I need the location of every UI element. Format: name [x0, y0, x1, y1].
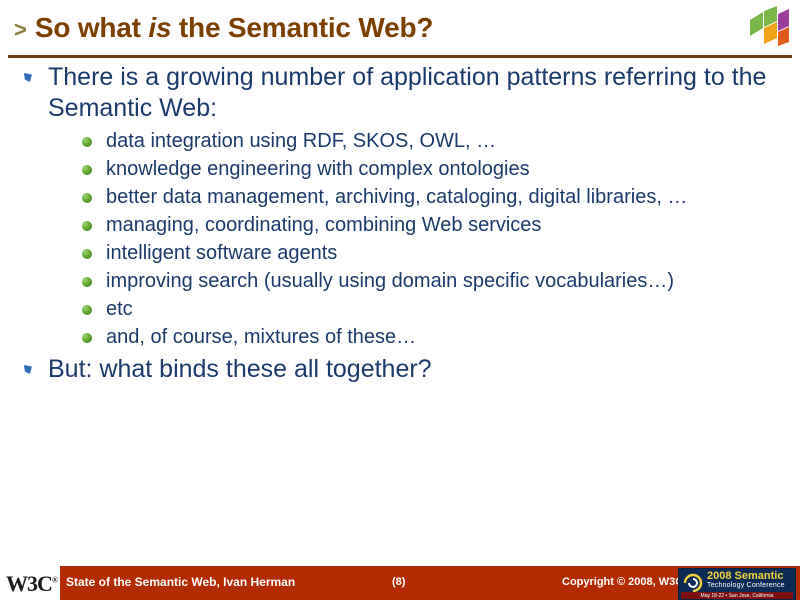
list-item-label: etc — [106, 298, 133, 320]
w3c-cube-logo-icon — [746, 6, 790, 46]
title-part-before: So what — [35, 12, 149, 43]
list-item-label: better data management, archiving, catal… — [106, 186, 687, 208]
conference-name: 2008 Semantic — [707, 571, 783, 582]
list-item-label: intelligent software agents — [106, 242, 337, 264]
diamond-bullet-icon — [24, 365, 32, 374]
conference-swirl-icon — [682, 572, 704, 594]
sphere-bullet-icon — [82, 333, 92, 343]
list-item: data integration using RDF, SKOS, OWL, … — [70, 129, 800, 154]
slide-title-bar: > So what is the Semantic Web? — [0, 0, 800, 56]
w3c-wordmark-text: W3C — [6, 571, 52, 596]
title-prompt-icon: > — [14, 19, 27, 41]
title-part-italic: is — [148, 12, 171, 43]
sphere-bullet-icon — [82, 277, 92, 287]
list-item-label: and, of course, mixtures of these… — [106, 326, 416, 348]
outline-level2-list: data integration using RDF, SKOS, OWL, …… — [70, 129, 800, 350]
sphere-bullet-icon — [82, 221, 92, 231]
list-item: There is a growing number of application… — [0, 62, 800, 350]
footer-copyright: Copyright © 2008, W3C — [562, 576, 683, 588]
sub-list-wrapper: data integration using RDF, SKOS, OWL, …… — [48, 129, 800, 350]
w3c-wordmark-logo: W3C® — [6, 571, 58, 597]
list-item: and, of course, mixtures of these… — [70, 325, 800, 350]
list-item: knowledge engineering with complex ontol… — [70, 157, 800, 182]
sphere-bullet-icon — [82, 305, 92, 315]
sphere-bullet-icon — [82, 249, 92, 259]
list-item: better data management, archiving, catal… — [70, 185, 800, 210]
conference-logo: 2008 Semantic Technology Conference May … — [678, 568, 796, 600]
title-part-after: the Semantic Web? — [171, 12, 433, 43]
list-item-label: improving search (usually using domain s… — [106, 270, 674, 292]
conference-subtitle: Technology Conference — [707, 582, 785, 590]
lead-paragraph: There is a growing number of application… — [48, 63, 766, 122]
sphere-bullet-icon — [82, 165, 92, 175]
closing-paragraph: But: what binds these all together? — [48, 355, 432, 383]
list-item: But: what binds these all together? — [0, 354, 800, 385]
list-item: etc — [70, 297, 800, 322]
slide-footer: W3C® State of the Semantic Web, Ivan Her… — [0, 566, 800, 600]
sphere-bullet-icon — [82, 193, 92, 203]
title-divider — [8, 55, 792, 58]
list-item-label: data integration using RDF, SKOS, OWL, … — [106, 130, 496, 152]
registered-trademark-icon: ® — [52, 576, 58, 585]
list-item: intelligent software agents — [70, 241, 800, 266]
slide-content: There is a growing number of application… — [0, 62, 800, 387]
footer-title: State of the Semantic Web, Ivan Herman — [66, 575, 295, 589]
list-item: improving search (usually using domain s… — [70, 269, 800, 294]
list-item-label: managing, coordinating, combining Web se… — [106, 214, 541, 236]
outline-level1-list: There is a growing number of application… — [0, 62, 800, 385]
list-item-label: knowledge engineering with complex ontol… — [106, 158, 530, 180]
diamond-bullet-icon — [24, 73, 32, 82]
page-number: (8) — [392, 576, 405, 588]
conference-dates: May 18-22 • San Jose, California — [681, 592, 793, 600]
list-item: managing, coordinating, combining Web se… — [70, 213, 800, 238]
page-title: So what is the Semantic Web? — [35, 12, 433, 44]
sphere-bullet-icon — [82, 137, 92, 147]
